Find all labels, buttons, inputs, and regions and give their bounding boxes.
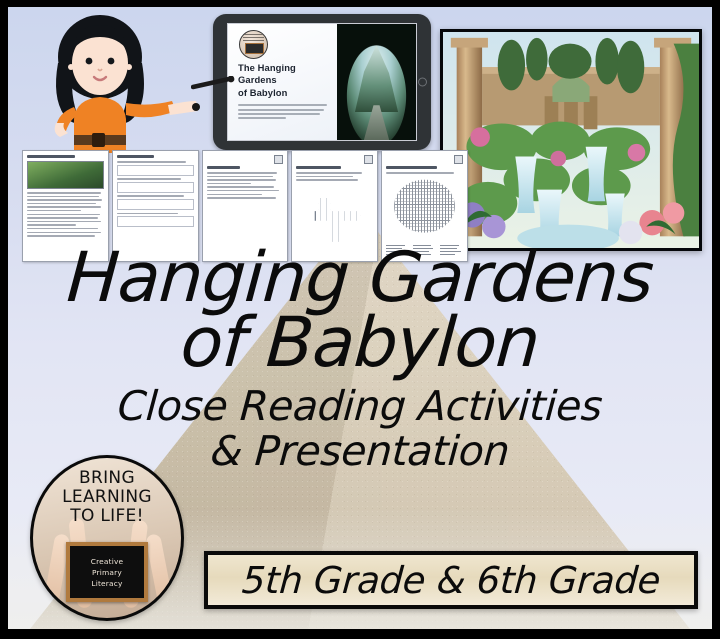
brand-tagline-line2: LEARNING: [33, 488, 181, 507]
tablet-device: The Hanging Gardens of Babylon: [213, 14, 431, 150]
title-block: Hanging Gardens of Babylon Close Reading…: [8, 245, 712, 473]
grade-band-badge: 5th Grade & 6th Grade: [204, 551, 698, 609]
slide-image-pane: [337, 24, 416, 140]
slide-body-text: [238, 104, 331, 119]
subtitle-line1: Close Reading Activities: [8, 384, 712, 428]
slide-brand-logo-icon: [239, 30, 268, 59]
brand-badge: BRING LEARNING TO LIFE! Creative Primary…: [30, 455, 184, 621]
product-cover: The Hanging Gardens of Babylon: [0, 0, 720, 639]
pointer-stick-icon: [191, 76, 235, 90]
slide-title-line2: of Babylon: [238, 87, 331, 99]
page-title-line1: Hanging Gardens: [8, 245, 712, 311]
grade-band-label: 5th Grade & 6th Grade: [240, 559, 661, 602]
word-search-grid: [386, 176, 463, 243]
chalkboard-line1: Creative: [91, 557, 124, 566]
brand-tagline-line3: TO LIFE!: [33, 507, 181, 526]
chalkboard-line2: Primary: [92, 568, 122, 577]
brand-tagline-line1: BRING: [33, 469, 181, 488]
brand-tagline: BRING LEARNING TO LIFE!: [33, 469, 181, 526]
chalkboard-line3: Literacy: [91, 579, 122, 588]
teacher-illustration: [30, 11, 208, 153]
slide-title-line1: The Hanging Gardens: [238, 62, 331, 87]
passage-image: [27, 161, 104, 189]
presentation-slide: The Hanging Gardens of Babylon: [227, 23, 417, 141]
chalkboard-logo: Creative Primary Literacy: [66, 542, 148, 602]
hanging-gardens-photo: [440, 29, 702, 251]
slide-text-pane: The Hanging Gardens of Babylon: [228, 24, 337, 140]
page-title-line2: of Babylon: [8, 309, 712, 378]
cover-canvas: The Hanging Gardens of Babylon: [8, 7, 712, 629]
